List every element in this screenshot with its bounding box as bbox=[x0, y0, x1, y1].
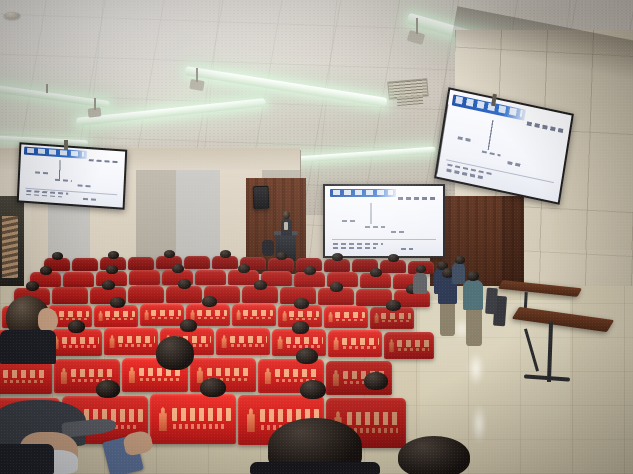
seat[interactable] bbox=[0, 360, 52, 394]
seat-chinese-text bbox=[172, 408, 230, 421]
seat-pinyin-text bbox=[244, 317, 272, 319]
seat-logo-emblem bbox=[276, 336, 284, 349]
person-standing-back-head bbox=[416, 265, 426, 273]
audience-head bbox=[110, 297, 125, 308]
seat-logo-emblem bbox=[236, 310, 242, 321]
seat[interactable] bbox=[195, 270, 226, 285]
seat-pinyin-text bbox=[290, 318, 318, 320]
seat-pinyin-text bbox=[152, 317, 180, 319]
person-in-aisle-1-legs bbox=[440, 300, 455, 336]
seat-chinese-text bbox=[3, 370, 48, 379]
seat[interactable] bbox=[384, 332, 434, 359]
seat[interactable] bbox=[129, 270, 160, 285]
seat-chinese-text bbox=[230, 336, 267, 343]
seat-chinese-text bbox=[397, 340, 431, 347]
seat-pinyin-text bbox=[119, 344, 153, 346]
seat-chinese-text bbox=[342, 338, 379, 345]
seat[interactable] bbox=[150, 394, 236, 444]
person-standing-far-head bbox=[455, 256, 465, 264]
student-mid-left-torso bbox=[0, 330, 56, 364]
seat-logo-emblem bbox=[127, 367, 136, 383]
audience-head bbox=[300, 380, 326, 399]
audience-head bbox=[96, 380, 120, 398]
student-foreground-far-right-head bbox=[398, 436, 470, 474]
slide-page-number bbox=[83, 198, 96, 201]
main-projection-screen[interactable] bbox=[323, 184, 445, 258]
audience-head bbox=[106, 265, 118, 274]
audience-head bbox=[296, 348, 318, 364]
audience-head bbox=[364, 372, 388, 390]
seat[interactable] bbox=[216, 328, 270, 355]
seat[interactable] bbox=[128, 286, 164, 303]
seat-logo-emblem bbox=[98, 311, 104, 322]
audience-head bbox=[238, 264, 250, 273]
seat-logo-emblem bbox=[331, 370, 340, 386]
slide-label-c bbox=[78, 184, 91, 187]
seat-logo-emblem bbox=[332, 337, 340, 350]
person-standing-back-torso bbox=[413, 272, 427, 294]
presenter-head bbox=[283, 211, 290, 219]
slide-diagram bbox=[363, 203, 380, 224]
seat[interactable] bbox=[52, 287, 88, 304]
seat-logo-emblem bbox=[220, 335, 228, 348]
seat[interactable] bbox=[94, 305, 138, 327]
seat-logo-emblem bbox=[245, 408, 257, 432]
presenter-shirt-highlight bbox=[284, 222, 288, 230]
seat[interactable] bbox=[72, 258, 98, 271]
seat-chinese-text bbox=[335, 312, 365, 318]
seat-chinese-text bbox=[289, 311, 319, 317]
slide-subtitle-text bbox=[88, 159, 119, 164]
audience-head bbox=[304, 266, 316, 275]
person-in-aisle-2-legs bbox=[466, 306, 482, 346]
seat-logo-emblem bbox=[374, 313, 380, 324]
slide-footnote-2 bbox=[26, 194, 61, 198]
audience-head bbox=[68, 320, 85, 333]
seat-chinese-text bbox=[59, 311, 89, 317]
seat-pinyin-text bbox=[63, 345, 97, 347]
person-in-aisle-2-torso bbox=[463, 280, 483, 310]
seat-logo-emblem bbox=[282, 311, 288, 322]
seat-logo-emblem bbox=[108, 335, 116, 348]
audience-head bbox=[292, 321, 309, 334]
audience-head bbox=[102, 280, 115, 290]
slide-label-a bbox=[35, 172, 50, 175]
audience-head bbox=[52, 252, 63, 260]
audience-head bbox=[294, 298, 309, 309]
left-monitor-slide bbox=[19, 144, 125, 207]
seat-pinyin-text bbox=[382, 320, 410, 322]
seat[interactable] bbox=[184, 256, 210, 269]
audience-head bbox=[178, 279, 191, 289]
student-center-head bbox=[156, 336, 194, 370]
seat-chinese-text bbox=[105, 311, 135, 317]
audience-head bbox=[220, 250, 231, 258]
slide-divider bbox=[447, 159, 554, 183]
seat-logo-emblem bbox=[328, 312, 334, 323]
seat-logo-emblem bbox=[59, 368, 68, 384]
audience-head bbox=[200, 378, 226, 397]
seat-chinese-text bbox=[286, 337, 323, 344]
seat[interactable] bbox=[104, 328, 158, 355]
seat-pinyin-text bbox=[336, 319, 364, 321]
slide-divider bbox=[332, 239, 436, 240]
lecture-hall-photo bbox=[0, 0, 633, 474]
wall-loudspeaker bbox=[253, 186, 270, 210]
seat[interactable] bbox=[328, 330, 382, 357]
slide-label-b bbox=[365, 226, 385, 228]
stage-wood-column bbox=[502, 196, 524, 292]
fluorescent-tube-4-stem bbox=[416, 18, 418, 34]
seat-pinyin-text bbox=[140, 378, 182, 381]
stage-seated-person bbox=[262, 240, 274, 256]
slide-page-number bbox=[401, 248, 414, 250]
slide-diagram bbox=[479, 118, 503, 152]
seat-chinese-text bbox=[207, 368, 252, 377]
person-in-aisle-2-head bbox=[467, 271, 479, 281]
seat-pinyin-text bbox=[398, 348, 430, 350]
seat-pinyin-text bbox=[173, 424, 227, 429]
seat-pinyin-text bbox=[343, 346, 377, 348]
side-chair-2[interactable] bbox=[485, 288, 498, 315]
seat-chinese-text bbox=[71, 369, 116, 378]
slide-diagram bbox=[51, 160, 68, 180]
seat-chinese-text bbox=[347, 412, 401, 425]
slide-title-banner bbox=[330, 189, 396, 197]
fluorescent-tube-2-stem bbox=[94, 98, 96, 110]
audience-head bbox=[330, 282, 343, 292]
seat-chinese-text bbox=[151, 310, 181, 316]
fluorescent-tube-1-stem bbox=[46, 84, 48, 93]
seat-chinese-text bbox=[118, 336, 155, 343]
seat-logo-emblem bbox=[0, 369, 1, 385]
seat-logo-emblem bbox=[388, 339, 395, 352]
student-shoulder bbox=[0, 444, 54, 474]
audience-head bbox=[172, 264, 184, 273]
seat[interactable] bbox=[48, 329, 102, 356]
audience-head bbox=[276, 252, 287, 260]
person-standing-far-torso bbox=[452, 262, 465, 284]
seat[interactable] bbox=[63, 272, 94, 287]
seat-logo-emblem bbox=[263, 368, 272, 384]
audience-head bbox=[164, 250, 175, 258]
audience-head bbox=[254, 280, 267, 290]
seat[interactable] bbox=[232, 304, 276, 326]
seat[interactable] bbox=[324, 306, 368, 328]
seat-chinese-text bbox=[197, 310, 227, 316]
seat-pinyin-text bbox=[4, 380, 46, 383]
audience-head bbox=[388, 254, 399, 262]
slide-label-b bbox=[55, 179, 72, 182]
audience-head bbox=[180, 319, 197, 332]
seat-chinese-text bbox=[275, 369, 320, 378]
audience-head bbox=[40, 266, 52, 275]
left-monitor[interactable] bbox=[17, 142, 127, 209]
stairs bbox=[2, 216, 18, 278]
slide-subtitle-text bbox=[398, 197, 438, 200]
seat-pinyin-text bbox=[106, 318, 134, 320]
seat[interactable] bbox=[140, 304, 184, 326]
seat-logo-emblem bbox=[157, 407, 169, 431]
seat-pinyin-text bbox=[198, 317, 226, 319]
slide-footnote-2 bbox=[333, 247, 375, 249]
seat-chinese-text bbox=[243, 310, 273, 316]
slide-label-a bbox=[342, 220, 359, 222]
slide-subtitle-text bbox=[526, 121, 563, 133]
audience-head bbox=[370, 268, 382, 277]
slide-label-a bbox=[457, 136, 473, 142]
audience-head bbox=[108, 251, 119, 259]
audience-head bbox=[386, 300, 401, 311]
seat[interactable] bbox=[128, 257, 154, 270]
student-foreground-right-shoulder bbox=[250, 462, 380, 474]
fluorescent-tube-3-stem bbox=[196, 68, 198, 82]
smoke-detector-icon bbox=[4, 12, 20, 19]
audience-head bbox=[332, 253, 343, 261]
seat-pinyin-text bbox=[231, 344, 265, 346]
audience-head bbox=[202, 296, 217, 307]
audience-head bbox=[26, 281, 39, 291]
slide-footnote-1 bbox=[333, 243, 383, 245]
main-screen-slide bbox=[325, 186, 443, 256]
student-mid-left-face bbox=[38, 308, 58, 332]
seat-chinese-text bbox=[381, 313, 411, 319]
seat-chinese-text bbox=[62, 337, 99, 344]
left-monitor-mount bbox=[64, 140, 68, 150]
slide-label-c bbox=[391, 231, 405, 233]
slide-title-banner bbox=[24, 147, 87, 159]
seat-logo-emblem bbox=[144, 310, 150, 321]
slide-label-c bbox=[507, 161, 521, 166]
